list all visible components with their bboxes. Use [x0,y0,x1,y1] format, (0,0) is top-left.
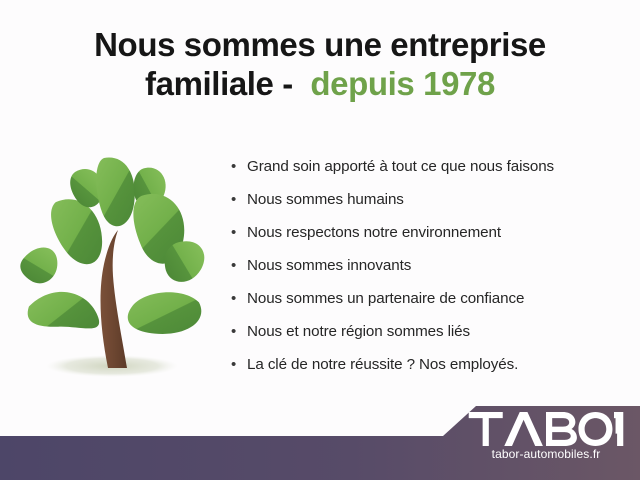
tabor-wordmark-icon [466,412,626,446]
bullet-marker-icon: • [231,183,247,216]
page-title-line-2-black: familiale - [145,65,293,102]
slide-canvas: Nous sommes une entreprise familiale - d… [0,0,640,480]
list-item-label: La clé de notre réussite ? Nos employés. [247,348,518,381]
list-item: • Nous et notre région sommes liés [231,315,631,348]
list-item: • Nous sommes innovants [231,249,631,282]
list-item-label: Nous et notre région sommes liés [247,315,470,348]
list-item-label: Nous sommes humains [247,183,404,216]
tree-illustration [12,152,217,392]
list-item: • La clé de notre réussite ? Nos employé… [231,348,631,381]
value-proposition-list: • Grand soin apporté à tout ce que nous … [231,150,631,381]
list-item-label: Nous sommes un partenaire de confiance [247,282,524,315]
list-item-label: Grand soin apporté à tout ce que nous fa… [247,150,554,183]
list-item-label: Nous respectons notre environnement [247,216,501,249]
bullet-marker-icon: • [231,216,247,249]
list-item-label: Nous sommes innovants [247,249,411,282]
brand-logo[interactable]: tabor-automobiles.fr [466,412,626,462]
list-item: • Nous sommes un partenaire de confiance [231,282,631,315]
page-title-accent: depuis 1978 [310,65,495,102]
tree-trunk [101,230,127,368]
brand-tagline: tabor-automobiles.fr [466,447,626,462]
list-item: • Grand soin apporté à tout ce que nous … [231,150,631,183]
list-item: • Nous sommes humains [231,183,631,216]
bullet-marker-icon: • [231,315,247,348]
bullet-marker-icon: • [231,150,247,183]
tree-illustration-svg [12,152,217,392]
bullet-marker-icon: • [231,282,247,315]
page-title-line-1: Nous sommes une entreprise [0,26,640,65]
bullet-marker-icon: • [231,348,247,381]
bullet-marker-icon: • [231,249,247,282]
list-item: • Nous respectons notre environnement [231,216,631,249]
footer-bar: tabor-automobiles.fr [0,398,640,480]
page-title: Nous sommes une entreprise familiale - d… [0,26,640,104]
page-title-line-2: familiale - depuis 1978 [0,65,640,104]
